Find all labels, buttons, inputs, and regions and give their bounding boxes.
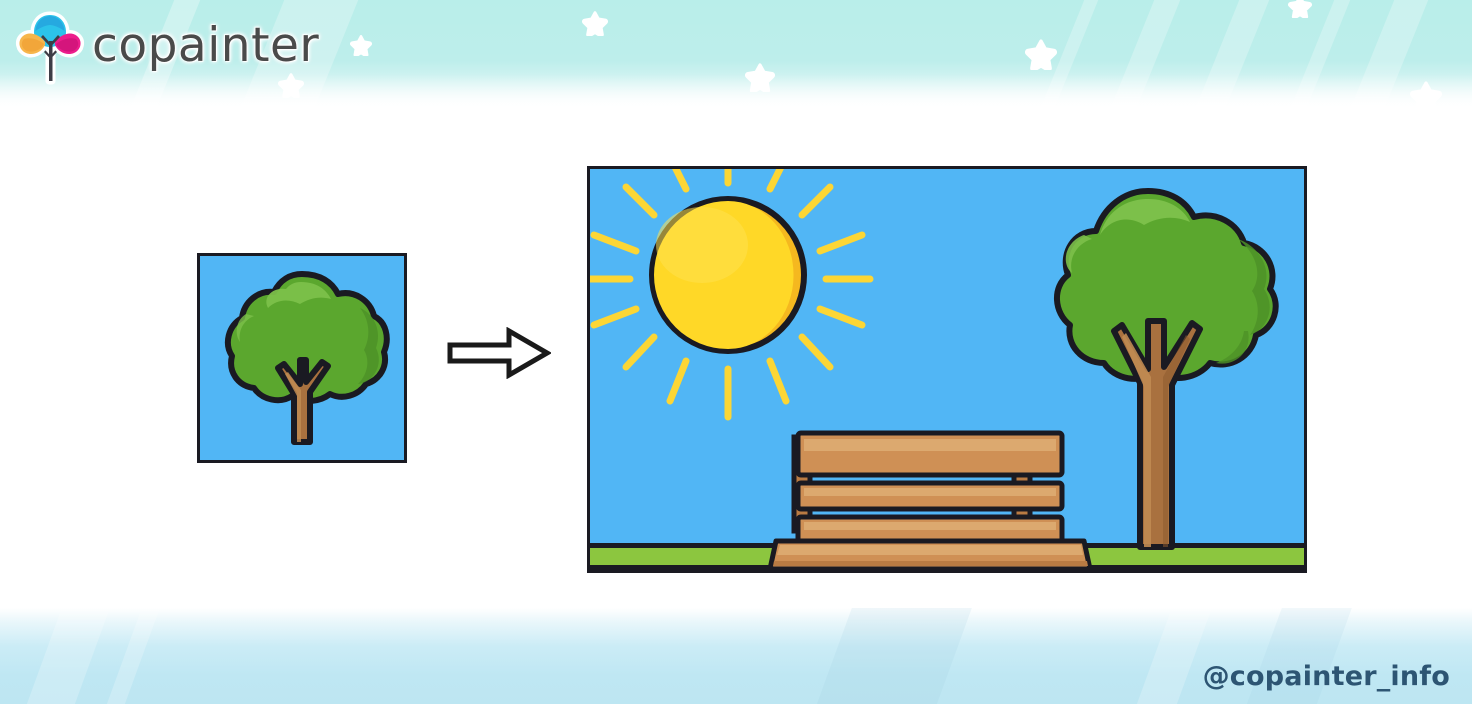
arrow-right-icon [447,327,551,379]
star-icon [582,10,608,36]
social-handle[interactable]: @copainter_info [1203,661,1450,692]
star-icon [350,34,372,56]
source-tree-thumbnail[interactable] [197,253,407,463]
brand-logo[interactable]: copainter [14,6,344,86]
generated-park-scene[interactable] [587,166,1307,573]
star-icon [1025,38,1057,70]
park-bench [770,433,1090,570]
bottom-banner: @copainter_info [0,608,1472,704]
top-banner: copainter [0,0,1472,110]
banner-stripe [7,608,121,704]
banner-stripe [797,608,983,704]
star-icon [1288,0,1312,18]
paint-flower-logo-icon [14,7,86,85]
brand-name: copainter [92,22,319,69]
page-root: copainter [0,0,1472,704]
